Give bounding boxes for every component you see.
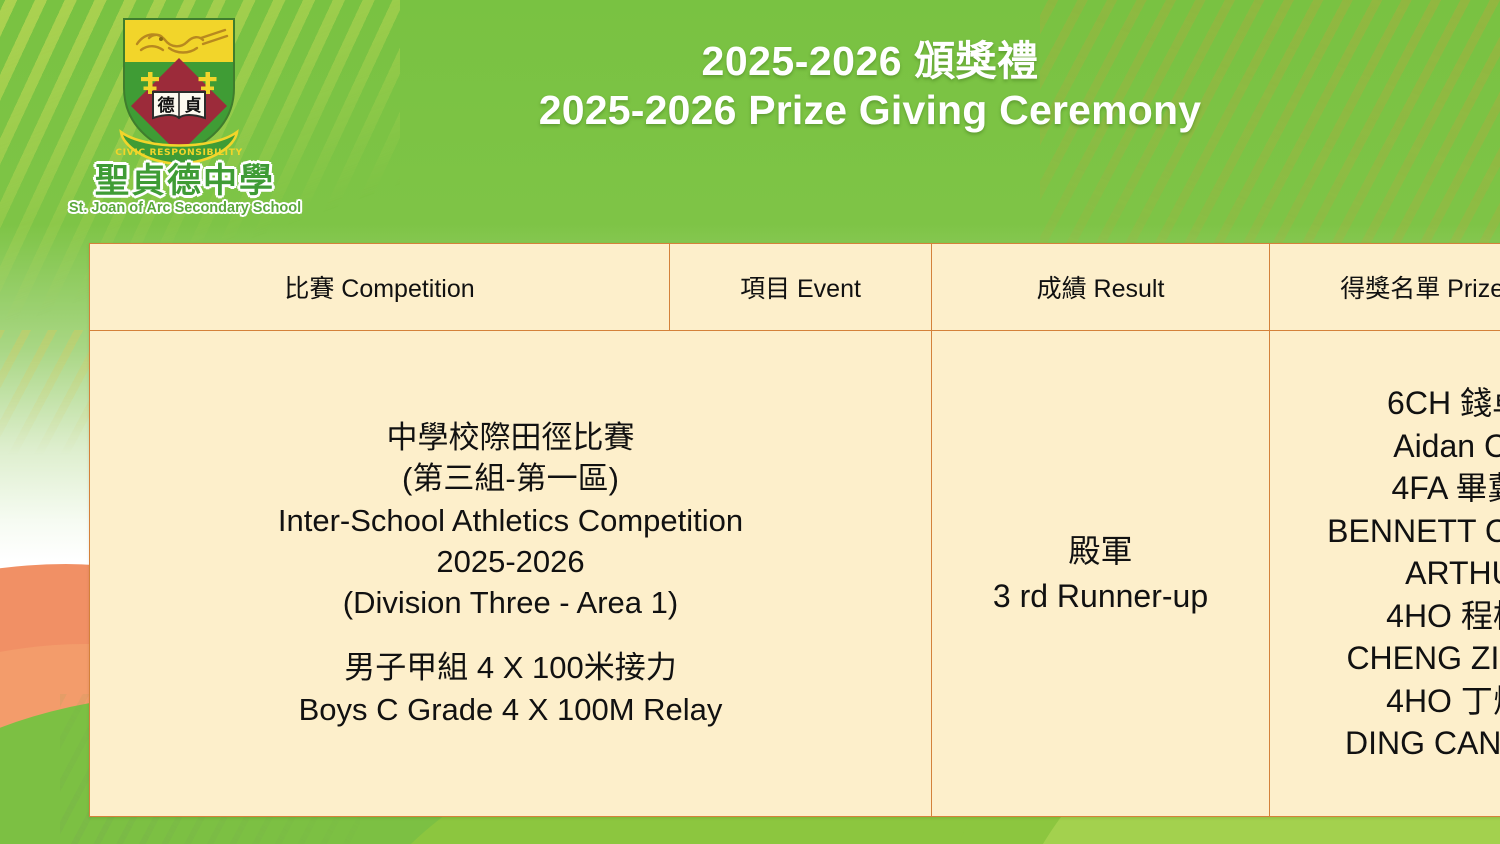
column-header-competition: 比賽 Competition (90, 244, 670, 331)
column-header-event: 項目 Event (670, 244, 932, 331)
school-crest-icon: 德 貞 CIVIC RESPONSIBILITY (115, 14, 243, 166)
competition-spacer (98, 623, 923, 647)
cell-competition: 中學校際田徑比賽 (第三組-第一區) Inter-School Athletic… (90, 331, 932, 817)
table-row: 中學校際田徑比賽 (第三組-第一區) Inter-School Athletic… (90, 331, 1500, 817)
page-title: 2025-2026 頒獎禮 2025-2026 Prize Giving Cer… (380, 38, 1360, 134)
competition-line: (第三組-第一區) (98, 458, 923, 499)
winner-line: CHENG ZI YUAN (1278, 637, 1500, 680)
event-line: Boys C Grade 4 X 100M Relay (98, 689, 923, 730)
winner-line: 4HO 丁燦揚 (1278, 680, 1500, 723)
result-line: 殿軍 (940, 529, 1261, 574)
competition-line: Inter-School Athletics Competition (98, 500, 923, 541)
school-name: 聖貞德中學 St. Joan of Arc Secondary School (60, 164, 310, 218)
winner-line: DING CAN YANG (1278, 722, 1500, 765)
competition-line: (Division Three - Area 1) (98, 582, 923, 623)
winner-line: ARTHUR (1278, 552, 1500, 595)
school-name-chinese: 聖貞德中學 (60, 164, 310, 199)
winner-line: Aidan Chin (1278, 425, 1500, 468)
result-line: 3 rd Runner-up (940, 574, 1261, 619)
page-title-english: 2025-2026 Prize Giving Ceremony (380, 86, 1360, 134)
svg-text:貞: 貞 (185, 95, 202, 116)
column-header-result: 成績 Result (932, 244, 1270, 331)
competition-line: 中學校際田徑比賽 (98, 417, 923, 458)
competition-line: 2025-2026 (98, 541, 923, 582)
winner-line: BENNETT CAYDEN (1278, 510, 1500, 553)
table-header-row: 比賽 Competition 項目 Event 成績 Result 得獎名單 P… (90, 244, 1500, 331)
prize-winners-table: 比賽 Competition 項目 Event 成績 Result 得獎名單 P… (89, 243, 1500, 817)
column-header-prize-winners: 得獎名單 Prize Winners (1270, 244, 1500, 331)
page-title-chinese: 2025-2026 頒獎禮 (380, 38, 1360, 86)
event-line: 男子甲組 4 X 100米接力 (98, 647, 923, 688)
school-name-english: St. Joan of Arc Secondary School (60, 200, 310, 217)
winner-line: 4FA 畢冀登 (1278, 467, 1500, 510)
cell-result: 殿軍 3 rd Runner-up (932, 331, 1270, 817)
svg-text:CIVIC RESPONSIBILITY: CIVIC RESPONSIBILITY (115, 147, 242, 158)
winner-line: 4HO 程梓源 (1278, 595, 1500, 638)
school-logo: 德 貞 CIVIC RESPONSIBILITY 聖貞德中學 St. Joan … (60, 14, 310, 229)
slide-canvas: 德 貞 CIVIC RESPONSIBILITY 聖貞德中學 St. Joan … (0, 0, 1500, 844)
winner-line: 6CH 錢卓謙 (1278, 382, 1500, 425)
cell-prize-winners: 6CH 錢卓謙 Aidan Chin 4FA 畢冀登 BENNETT CAYDE… (1270, 331, 1500, 817)
svg-text:德: 德 (158, 95, 175, 116)
